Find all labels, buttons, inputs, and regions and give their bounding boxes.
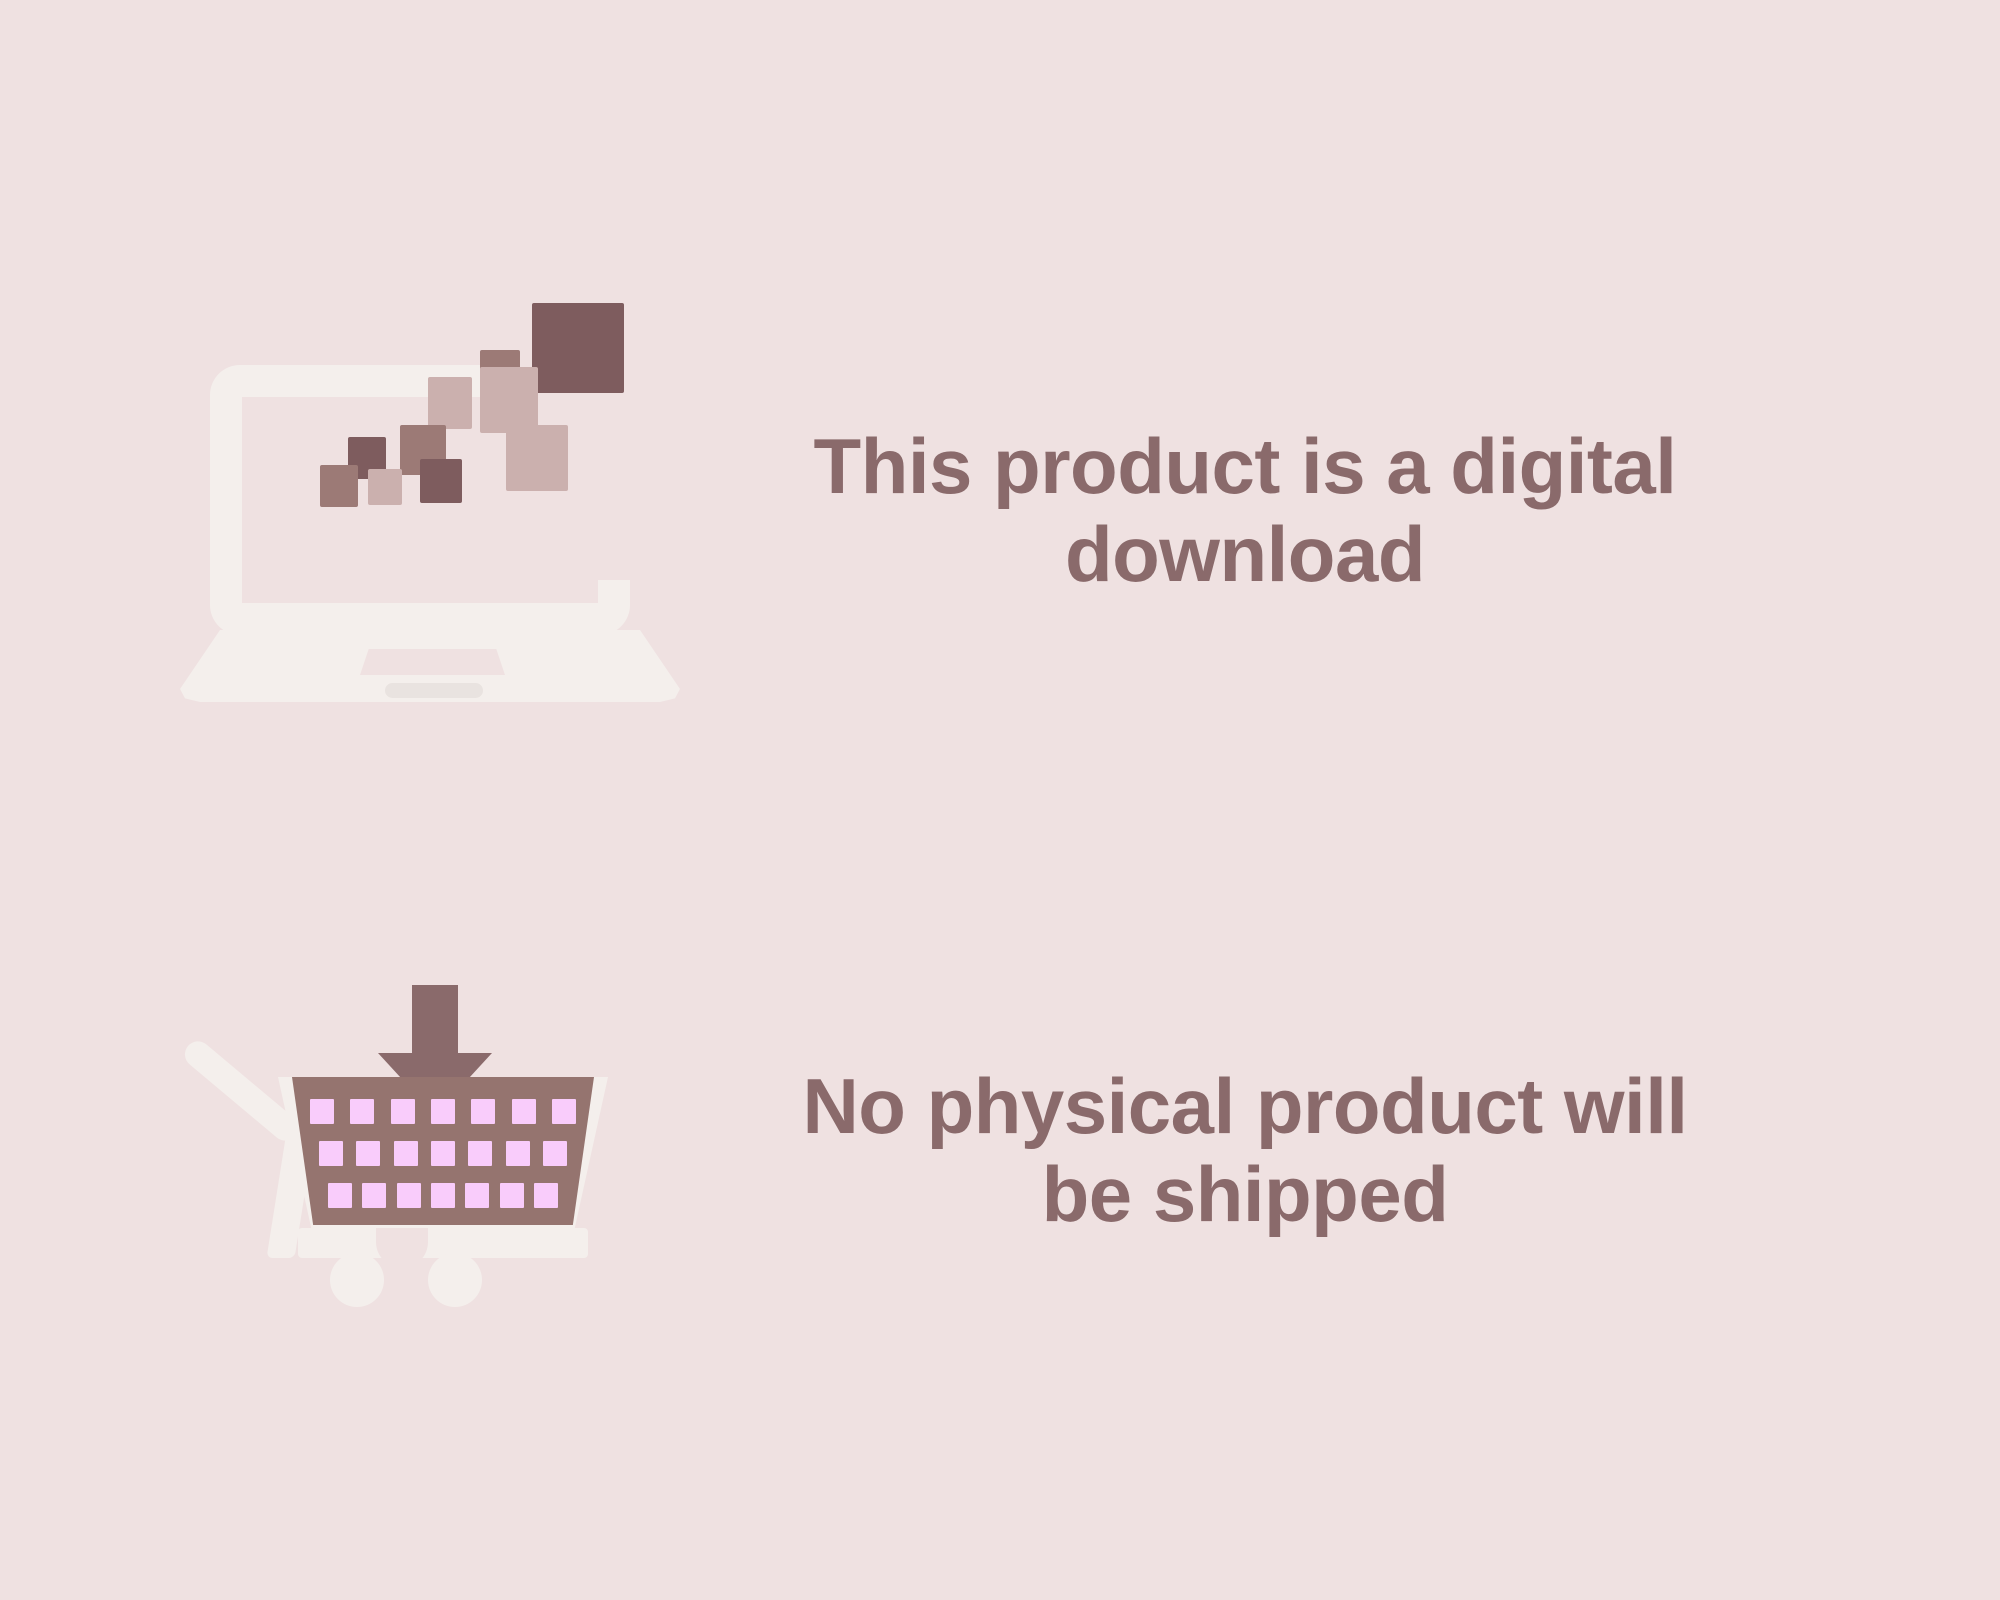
cart-grid-cell: [394, 1141, 418, 1166]
cart-bottom-bar: [298, 1228, 588, 1258]
pixel-square: [420, 459, 462, 503]
laptop-front-notch: [385, 683, 483, 698]
cart-grid-cell: [506, 1141, 530, 1166]
cart-grid-cell: [362, 1183, 386, 1208]
cart-grid-cell: [468, 1141, 492, 1166]
cart-grid-cell: [543, 1141, 567, 1166]
cart-grid-cell: [500, 1183, 524, 1208]
digital-download-headline: This product is a digital download: [740, 422, 1750, 598]
cart-grid-cell: [356, 1141, 380, 1166]
cart-wheel-left: [330, 1253, 384, 1307]
cart-grid-cell: [465, 1183, 489, 1208]
cart-grid-cell: [397, 1183, 421, 1208]
cart-grid-cell: [512, 1099, 536, 1124]
cart-basket-grid: [292, 1077, 594, 1225]
cart-grid-cell: [310, 1099, 334, 1124]
cart-axle-gap: [376, 1228, 428, 1268]
feature-row-digital-download: This product is a digital download: [0, 230, 2000, 790]
down-arrow-shaft: [412, 985, 458, 1057]
pixel-square: [506, 425, 568, 491]
shopping-cart-with-down-arrow-icon: [180, 985, 700, 1315]
no-shipping-headline: No physical product will be shipped: [740, 1062, 1750, 1238]
pixel-square: [428, 377, 472, 429]
pixel-square: [368, 469, 402, 505]
cart-grid-cell: [319, 1141, 343, 1166]
cart-grid-cell: [328, 1183, 352, 1208]
graphic-canvas: This product is a digital download No ph…: [0, 0, 2000, 1600]
cart-grid-cell: [471, 1099, 495, 1124]
pixel-square: [532, 303, 624, 393]
pixel-square: [320, 465, 358, 507]
cart-grid-cell: [552, 1099, 576, 1124]
cart-grid-cell: [534, 1183, 558, 1208]
cart-grid-cell: [391, 1099, 415, 1124]
feature-row-no-shipping: No physical product will be shipped: [0, 950, 2000, 1350]
cart-wheel-right: [428, 1253, 482, 1307]
digital-download-text-block: This product is a digital download: [740, 422, 1750, 598]
no-shipping-text-block: No physical product will be shipped: [740, 1062, 1750, 1238]
cart-grid-cell: [431, 1099, 455, 1124]
cart-grid-cell: [431, 1141, 455, 1166]
pixel-square: [480, 367, 538, 433]
cart-grid-cell: [431, 1183, 455, 1208]
laptop-touchpad: [360, 649, 505, 675]
cart-grid-cell: [350, 1099, 374, 1124]
laptop-with-pixels-icon: [180, 295, 700, 725]
